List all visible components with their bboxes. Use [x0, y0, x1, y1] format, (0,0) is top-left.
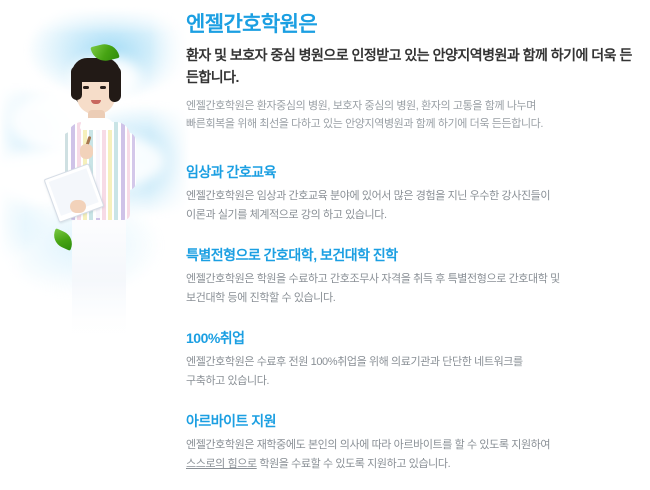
eye-left — [83, 86, 89, 89]
section-body-line-1: 엔젤간호학원은 수료후 전원 100%취업을 위해 의료기관과 단단한 네트워크… — [186, 356, 523, 368]
section-body-line-2-underlined: 스스로의 힘으로 — [186, 458, 257, 470]
section-body: 엔젤간호학원은 재학중에도 본인의 의사에 따라 아르바이트를 할 수 있도록 … — [186, 436, 638, 474]
collar — [80, 118, 114, 130]
intro-subtext: 엔젤간호학원은 환자중심의 병원, 보호자 중심의 병원, 환자의 고통을 함께… — [186, 98, 638, 134]
section-body-line-1: 엔젤간호학원은 임상과 간호교육 분야에 있어서 많은 경험을 지닌 우수한 강… — [186, 190, 550, 202]
intro-subtext-line-1: 엔젤간호학원은 환자중심의 병원, 보호자 중심의 병원, 환자의 고통을 함께… — [186, 100, 536, 112]
intro-subtext-line-2: 빠른회복을 위해 최선을 다하고 있는 안양지역병원과 함께 하기에 더욱 든든… — [186, 118, 543, 130]
section-body-line-1: 엔젤간호학원은 재학중에도 본인의 의사에 따라 아르바이트를 할 수 있도록 … — [186, 439, 550, 451]
section-special-admission: 특별전형으로 간호대학, 보건대학 진학 엔젤간호학원은 학원을 수료하고 간호… — [186, 246, 638, 307]
section-body: 엔젤간호학원은 임상과 간호교육 분야에 있어서 많은 경험을 지닌 우수한 강… — [186, 187, 638, 225]
section-body-line-2: 이론과 실기를 체계적으로 강의 하고 있습니다. — [186, 209, 387, 221]
section-title: 100%취업 — [186, 329, 638, 347]
eye-right — [100, 86, 106, 89]
uniform-trousers — [72, 216, 126, 336]
section-title: 특별전형으로 간호대학, 보건대학 진학 — [186, 246, 638, 264]
section-body-line-2: 구축하고 있습니다. — [186, 375, 269, 387]
section-body: 엔젤간호학원은 학원을 수료하고 간호조무사 자격을 취득 후 특별전형으로 간… — [186, 270, 638, 308]
section-employment-rate: 100%취업 엔젤간호학원은 수료후 전원 100%취업을 위해 의료기관과 단… — [186, 329, 638, 390]
section-body-line-1: 엔젤간호학원은 학원을 수료하고 간호조무사 자격을 취득 후 특별전형으로 간… — [186, 273, 560, 285]
section-body: 엔젤간호학원은 수료후 전원 100%취업을 위해 의료기관과 단단한 네트워크… — [186, 353, 638, 391]
promo-page: 엔젤간호학원은 환자 및 보호자 중심 병원으로 인정받고 있는 안양지역병원과… — [0, 0, 650, 490]
section-body-line-2-rest: 학원을 수료할 수 있도록 지원하고 있습니다. — [257, 458, 451, 470]
intro-lead: 환자 및 보호자 중심 병원으로 인정받고 있는 안양지역병원과 함께 하기에 … — [186, 45, 638, 88]
hair-side-left — [71, 66, 82, 100]
section-clinical-nursing-education: 임상과 간호교육 엔젤간호학원은 임상과 간호교육 분야에 있어서 많은 경험을… — [186, 163, 638, 224]
hand-lower — [70, 200, 86, 213]
page-title: 엔젤간호학원은 — [186, 0, 638, 38]
hair-side-right — [109, 66, 121, 102]
nurse-figure — [44, 58, 154, 358]
section-body-line-2: 보건대학 등에 진학할 수 있습니다. — [186, 292, 335, 304]
section-part-time-job-support: 아르바이트 지원 엔젤간호학원은 재학중에도 본인의 의사에 따라 아르바이트를… — [186, 412, 638, 473]
section-title: 임상과 간호교육 — [186, 163, 638, 181]
nurse-photo-panel — [0, 0, 190, 490]
hand-upper — [80, 144, 93, 159]
content-column: 엔젤간호학원은 환자 및 보호자 중심 병원으로 인정받고 있는 안양지역병원과… — [186, 0, 638, 490]
section-title: 아르바이트 지원 — [186, 412, 638, 430]
